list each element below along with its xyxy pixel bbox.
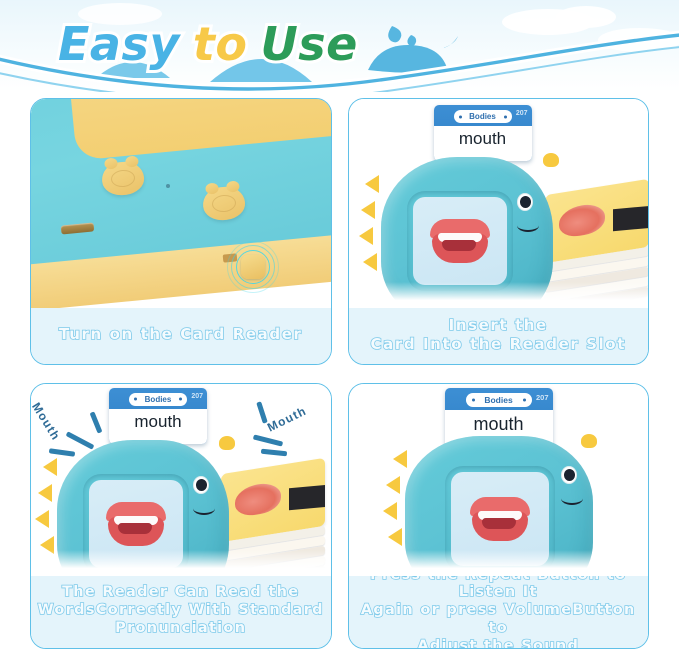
caption-line: Card Into the Reader Slot: [371, 335, 627, 353]
lips-icon: [430, 219, 490, 263]
panel-reads-word[interactable]: Mouth Mouth: [30, 383, 332, 650]
power-button[interactable]: [241, 255, 265, 279]
panel-insert-card-caption: Insert the Card Into the Reader Slot: [349, 308, 649, 364]
lips-opening: [118, 523, 152, 534]
dino-spike: [383, 502, 397, 520]
panel-turn-on-image: [31, 99, 331, 308]
dino-eye: [193, 476, 209, 494]
flashcard-category-label: Bodies: [484, 395, 512, 405]
paw-button-right-emboss: [211, 194, 237, 213]
caption-line: Insert the: [371, 316, 627, 334]
header-banner: Easy to Use: [0, 0, 679, 92]
screen-display: [413, 197, 507, 285]
dino-spike: [361, 201, 375, 219]
dino-spike: [386, 476, 400, 494]
flashcard-category-label: Bodies: [145, 395, 172, 404]
caption-line: Again or press VolumeButton to: [355, 602, 643, 637]
dino-spike: [365, 175, 379, 193]
badge-dot-left: [459, 115, 462, 118]
scene-floor-fade: [31, 550, 331, 576]
page-title: Easy to Use: [58, 8, 358, 80]
sound-effect-right: Mouth: [247, 388, 331, 464]
panel-grid: Turn on the Card Reader: [0, 92, 679, 659]
flashcard-category-label: Bodies: [469, 112, 496, 121]
sound-ray: [256, 401, 268, 423]
panel-insert-card[interactable]: Bodies 207 mouth: [348, 98, 650, 365]
flashcard-number: 207: [516, 110, 528, 117]
caption-text: Press the Repeat Button to Listen It Aga…: [355, 567, 643, 649]
lips-opening: [442, 240, 476, 251]
panel-turn-on-caption: Turn on the Card Reader: [31, 308, 331, 364]
caption-text: Turn on the Card Reader: [59, 325, 302, 343]
dino-spike: [35, 510, 49, 528]
dino-spike: [388, 528, 402, 546]
caption-line: The Reader Can Read the: [38, 584, 324, 602]
lips-opening: [482, 518, 516, 529]
panel-buttons-image: Bodies 207 mouth: [349, 384, 649, 577]
panel-buttons-caption: Press the Repeat Button to Listen It Aga…: [349, 576, 649, 648]
scene-floor-fade: [349, 282, 649, 308]
dino-spike: [43, 458, 57, 476]
caption-line: Pronunciation: [38, 620, 324, 638]
badge-dot-left: [472, 398, 475, 401]
dino-smile: [193, 502, 215, 515]
dino-spike: [393, 450, 407, 468]
caption-text: The Reader Can Read the WordsCorrectly W…: [38, 584, 324, 637]
power-button-highlight[interactable]: [227, 241, 279, 293]
dino-smile: [517, 219, 539, 232]
sound-ray: [253, 434, 283, 446]
screen-bezel: [407, 191, 513, 291]
dino-tail: [219, 436, 235, 450]
panel-buttons[interactable]: Bodies 207 mouth: [348, 383, 650, 650]
product-infographic: Easy to Use: [0, 0, 679, 659]
dino-eye: [561, 466, 577, 484]
title-word-to: to: [193, 21, 248, 67]
dino-smile: [561, 492, 583, 505]
caption-line: WordsCorrectly With Standard: [38, 602, 324, 620]
title-word-use: Use: [260, 21, 357, 67]
flashcard-category-badge: Bodies: [129, 393, 187, 406]
flashcard-number: 207: [536, 393, 549, 402]
flashcard-category-badge: Bodies: [466, 393, 532, 407]
dino-spike: [363, 253, 377, 271]
badge-dot-left: [134, 398, 137, 401]
badge-dot-right: [179, 398, 182, 401]
dino-tail: [581, 434, 597, 448]
lips-icon: [106, 502, 166, 546]
scene-floor-fade: [349, 550, 649, 576]
badge-dot-right: [523, 398, 526, 401]
flashcard-top-dark-band: [613, 206, 649, 231]
panel-insert-card-image: Bodies 207 mouth: [349, 99, 649, 308]
panel-turn-on[interactable]: Turn on the Card Reader: [30, 98, 332, 365]
paw-button-left-emboss: [110, 169, 136, 188]
dino-spike: [38, 484, 52, 502]
panel-reads-word-caption: The Reader Can Read the WordsCorrectly W…: [31, 576, 331, 648]
flashcard-top-dark-band: [289, 485, 325, 510]
dino-tail: [543, 153, 559, 167]
dino-spike: [359, 227, 373, 245]
sound-effect-right-label: Mouth: [265, 403, 309, 434]
caption-line: Adjust the Sound: [355, 638, 643, 649]
flashcard-number: 207: [191, 393, 203, 400]
title-word-easy: Easy: [58, 21, 180, 67]
badge-dot-right: [504, 115, 507, 118]
flashcard-category-badge: Bodies: [454, 110, 512, 123]
dino-eye: [517, 193, 533, 211]
panel-reads-word-image: Mouth Mouth: [31, 384, 331, 577]
microphone-hole-icon: [166, 184, 170, 188]
sound-ray: [261, 448, 287, 456]
lips-icon: [470, 497, 530, 541]
caption-text: Insert the Card Into the Reader Slot: [371, 316, 627, 353]
